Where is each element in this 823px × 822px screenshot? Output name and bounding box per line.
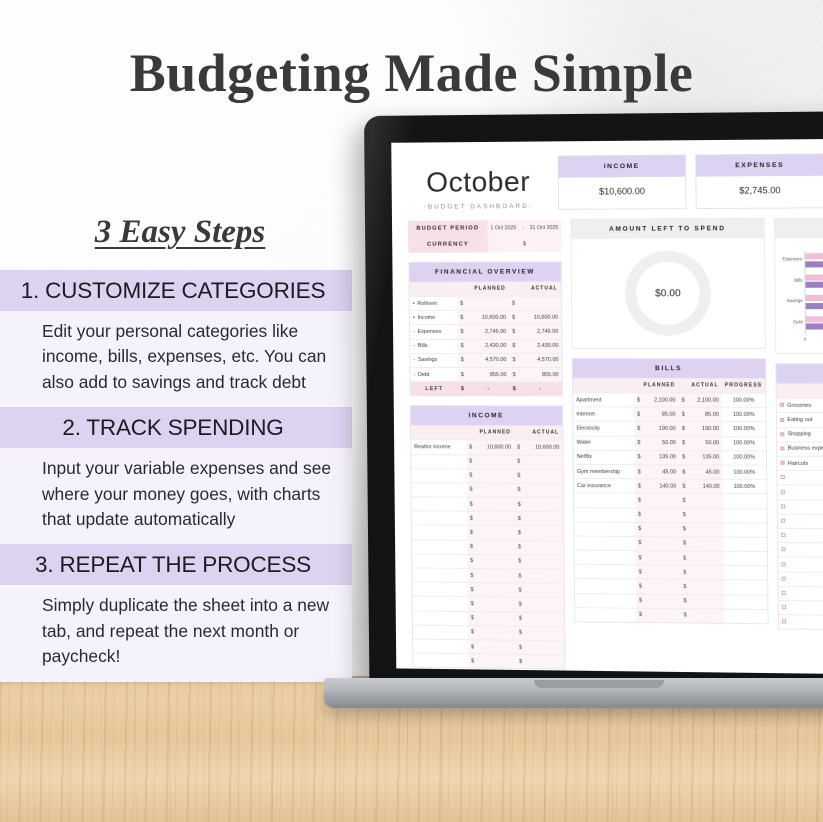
cell-planned[interactable] xyxy=(477,611,516,626)
cell-planned[interactable]: 10,600.00 xyxy=(475,440,514,454)
table-row[interactable]: $$ xyxy=(413,596,564,612)
bills-col-blank xyxy=(573,378,634,393)
financial-overview-table: PLANNED ACTUAL • Rollover$$• Income$10,6… xyxy=(410,281,562,395)
cell-currency: $ xyxy=(467,554,476,568)
total-label: LEFT xyxy=(411,382,458,396)
cell-planned[interactable]: 2,430.00 xyxy=(468,339,510,353)
donut-center-value: $0.00 xyxy=(625,251,712,336)
table-row[interactable]: $$ xyxy=(412,497,563,512)
cell-planned[interactable]: 855.00 xyxy=(468,367,510,381)
cell-currency: $ xyxy=(515,512,524,526)
table-row[interactable]: $$ xyxy=(412,525,563,540)
budget-period-card[interactable]: BUDGET PERIOD 1 Oct 2025 - 31 Oct 2025 C… xyxy=(408,220,562,253)
bills-panel-title: BILLS xyxy=(573,359,765,378)
cell-currency: $ xyxy=(680,508,689,522)
cell-planned[interactable] xyxy=(477,640,516,655)
income-panel-title: INCOME xyxy=(411,406,562,425)
table-row[interactable]: $$ xyxy=(411,468,562,483)
total-actual: - xyxy=(520,382,562,396)
cell-actual[interactable] xyxy=(523,469,562,483)
checkbox-icon[interactable] xyxy=(781,562,785,566)
cell-actual[interactable] xyxy=(689,537,723,552)
cash-flow-x-axis: 01,0002,000 xyxy=(805,337,823,347)
cell-currency: $ xyxy=(466,454,475,468)
cell-planned[interactable] xyxy=(477,625,516,640)
cell-actual[interactable] xyxy=(690,580,724,595)
cell-progress xyxy=(723,494,767,509)
cell-actual[interactable] xyxy=(524,555,563,570)
row-label[interactable]: Business expenses xyxy=(777,442,823,457)
cell-planned[interactable] xyxy=(476,554,515,569)
cell-actual[interactable]: 85.00 xyxy=(688,407,722,421)
cell-currency: $ xyxy=(635,479,644,493)
table-row[interactable]: $ xyxy=(778,557,823,573)
table-row[interactable]: $$ xyxy=(575,550,767,566)
cell-planned[interactable]: 85.00 xyxy=(643,407,679,421)
cell-progress xyxy=(724,580,768,595)
cell-actual[interactable] xyxy=(525,583,564,598)
budget-period-dash: - xyxy=(522,225,524,231)
row-label[interactable]: Groceries xyxy=(777,398,823,413)
amount-left-card: AMOUNT LEFT TO SPEND $0.00 xyxy=(570,218,766,349)
row-label[interactable]: Eating out xyxy=(777,413,823,428)
cell-actual[interactable] xyxy=(524,497,563,512)
table-row[interactable]: Eating out$300. xyxy=(777,413,823,428)
cell-planned[interactable] xyxy=(645,551,681,566)
table-row[interactable]: - Expenses$2,745.00$2,745.00 xyxy=(410,325,561,339)
row-label[interactable] xyxy=(412,497,467,512)
table-row[interactable]: $$ xyxy=(412,539,563,554)
row-label[interactable] xyxy=(412,525,467,540)
total-currency: $ xyxy=(458,382,468,396)
checkbox-icon[interactable] xyxy=(781,490,785,494)
cell-actual[interactable] xyxy=(525,640,564,655)
cell-planned[interactable] xyxy=(645,608,681,622)
cell-currency: $ xyxy=(678,393,687,407)
table-row[interactable]: Water$50.00$50.00100.00% xyxy=(573,436,765,451)
checkbox-icon[interactable] xyxy=(782,576,786,580)
row-label[interactable] xyxy=(779,600,823,615)
cell-planned[interactable] xyxy=(476,583,515,598)
cell-actual[interactable]: 45.00 xyxy=(688,465,722,480)
cell-planned[interactable] xyxy=(476,526,515,541)
table-row[interactable]: $$ xyxy=(574,493,766,508)
cell-actual[interactable]: 2,430.00 xyxy=(519,339,561,353)
cash-flow-card: CASH FLOW Planned Actual ExpensesBillsSa… xyxy=(774,217,823,354)
step-1-heading: 1. CUSTOMIZE CATEGORIES xyxy=(0,270,352,311)
cell-planned[interactable]: 140.00 xyxy=(644,479,680,494)
bar-actual xyxy=(806,282,823,288)
table-row[interactable]: Realtor income$10,600.00$10,600.00 xyxy=(411,440,562,455)
row-label[interactable] xyxy=(778,528,823,543)
row-label[interactable] xyxy=(574,493,635,508)
cell-currency: $ xyxy=(680,594,689,608)
cell-actual[interactable] xyxy=(689,494,723,509)
cell-planned[interactable]: 50.00 xyxy=(643,436,679,450)
row-label[interactable] xyxy=(779,586,823,601)
cell-planned[interactable]: 2,100.00 xyxy=(643,393,679,407)
kpi-expenses-label: EXPENSES xyxy=(696,154,823,176)
dashboard-left-column: BUDGET PERIOD 1 Oct 2025 - 31 Oct 2025 C… xyxy=(408,210,566,670)
table-row[interactable]: $ xyxy=(778,543,823,559)
cell-planned[interactable] xyxy=(645,579,681,594)
cell-currency: $ xyxy=(680,580,689,594)
table-header-row: PLANNED xyxy=(777,384,823,399)
row-label: - Savings xyxy=(410,353,457,367)
checkbox-icon[interactable] xyxy=(782,591,786,595)
amount-left-title: AMOUNT LEFT TO SPEND xyxy=(571,219,763,239)
cell-currency: $ xyxy=(680,565,689,579)
cell-planned[interactable] xyxy=(476,540,515,555)
cell-actual[interactable] xyxy=(525,655,564,669)
cell-planned[interactable] xyxy=(476,597,515,612)
table-row[interactable]: Gym membership$45.00$45.00100.00% xyxy=(574,464,766,479)
table-row[interactable]: $$ xyxy=(413,653,564,669)
cell-currency: $ xyxy=(467,597,476,611)
steps-list: 1. CUSTOMIZE CATEGORIES Edit your person… xyxy=(0,270,352,682)
cell-actual[interactable]: 2,745.00 xyxy=(519,325,561,339)
cell-actual[interactable] xyxy=(690,609,724,623)
cell-actual[interactable]: 140.00 xyxy=(689,479,723,494)
table-row[interactable]: - Savings$4,570.00$4,570.00 xyxy=(410,353,561,367)
cell-currency: $ xyxy=(680,551,689,565)
cell-planned[interactable]: 190.00 xyxy=(643,422,679,436)
currency-value[interactable]: $ xyxy=(488,236,562,252)
cell-currency: $ xyxy=(635,465,644,479)
row-label[interactable]: Car insurance xyxy=(574,479,635,494)
checkbox-icon[interactable] xyxy=(781,547,785,551)
table-row[interactable]: - Bills$2,430.00$2,430.00 xyxy=(410,339,561,353)
cell-progress: 100.00% xyxy=(722,436,766,451)
row-label[interactable]: Shopping xyxy=(777,427,823,442)
table-row[interactable]: $$ xyxy=(412,568,563,584)
row-label[interactable] xyxy=(411,454,466,468)
cell-currency: $ xyxy=(515,583,524,597)
row-label[interactable] xyxy=(413,625,468,640)
cell-actual[interactable] xyxy=(690,594,724,609)
cell-planned[interactable] xyxy=(475,454,514,468)
cell-actual[interactable] xyxy=(525,626,564,641)
checkbox-icon[interactable] xyxy=(781,504,785,508)
cell-actual[interactable] xyxy=(689,508,723,523)
cell-planned[interactable]: 135.00 xyxy=(644,450,680,464)
cell-actual[interactable] xyxy=(524,483,563,497)
income-panel: INCOME PLANNED ACTUAL Realtor income$10,… xyxy=(410,405,566,669)
row-label[interactable]: Internet xyxy=(573,407,634,421)
cell-progress xyxy=(723,508,767,523)
income-table: PLANNED ACTUAL Realtor income$10,600.00$… xyxy=(411,425,565,668)
laptop-lid: October -BUDGET DASHBOARD- INCOME $10,60… xyxy=(364,111,823,692)
cash-flow-plot: ExpensesBillsSavingsDebt xyxy=(804,251,823,335)
row-label[interactable] xyxy=(778,572,823,587)
row-label[interactable] xyxy=(412,539,467,554)
dashboard-middle-column: AMOUNT LEFT TO SPEND $0.00 BILLS PLANNED xyxy=(570,209,769,673)
cell-currency: $ xyxy=(515,497,524,511)
row-label: • Income xyxy=(410,311,457,325)
cell-currency: $ xyxy=(636,608,645,622)
table-row[interactable]: - Debt$855.00$855.00 xyxy=(410,367,561,381)
cell-currency: $ xyxy=(679,479,688,493)
table-row[interactable]: $$ xyxy=(412,483,563,498)
bills-panel: BILLS PLANNED ACTUAL PROGRESS Apartment$… xyxy=(572,358,769,624)
cell-currency: $ xyxy=(468,611,477,625)
checkbox-icon[interactable] xyxy=(781,533,785,537)
dashboard-right-column: CASH FLOW Planned Actual ExpensesBillsSa… xyxy=(774,208,823,674)
row-label[interactable] xyxy=(411,468,466,482)
cell-planned[interactable]: 2,745.00 xyxy=(467,325,509,339)
table-row[interactable]: Electricity$190.00$190.00100.00% xyxy=(573,421,765,436)
table-row[interactable]: $ xyxy=(778,485,823,500)
table-row[interactable]: $$ xyxy=(412,554,563,569)
row-label[interactable]: Apartment xyxy=(573,393,634,407)
bar-category-label: Savings xyxy=(786,298,802,303)
cell-actual[interactable]: 855.00 xyxy=(520,368,562,382)
table-row[interactable]: $ xyxy=(779,615,823,631)
cell-actual[interactable]: 4,570.00 xyxy=(520,353,562,367)
cell-actual[interactable]: 10,600.00 xyxy=(519,310,561,324)
bills-col-actual: ACTUAL xyxy=(678,378,721,393)
cell-currency: $ xyxy=(468,625,477,639)
row-label[interactable]: Water xyxy=(573,436,634,451)
cell-actual[interactable]: 10,600.00 xyxy=(523,440,562,454)
cell-planned[interactable] xyxy=(477,654,516,668)
expenses-table: PLANNED Groceries$550.Eating out$300.Sho… xyxy=(777,384,823,631)
cell-currency: $ xyxy=(516,612,525,626)
cell-actual[interactable] xyxy=(519,296,561,310)
cell-actual[interactable] xyxy=(525,612,564,627)
cell-planned[interactable] xyxy=(645,594,681,609)
bar-planned xyxy=(805,274,823,280)
cell-progress: 100.00% xyxy=(722,393,766,407)
cash-flow-title: CASH FLOW xyxy=(775,218,823,238)
table-row[interactable]: Netflix$135.00$135.00100.00% xyxy=(574,450,766,465)
cell-actual[interactable] xyxy=(524,526,563,541)
cell-actual[interactable] xyxy=(689,551,723,566)
cell-planned[interactable] xyxy=(467,296,509,310)
cell-currency: $ xyxy=(514,483,523,497)
bar-actual xyxy=(806,303,823,309)
cell-planned[interactable] xyxy=(475,483,514,497)
cell-progress xyxy=(723,537,767,552)
table-row[interactable]: $$ xyxy=(413,611,564,627)
row-label[interactable] xyxy=(574,536,635,551)
cell-planned[interactable]: 10,600.00 xyxy=(467,310,509,324)
table-row[interactable]: $ xyxy=(778,528,823,544)
row-label[interactable] xyxy=(575,565,636,580)
fo-col-blank xyxy=(410,282,457,297)
expenses-panel-title: EXPENSES xyxy=(776,364,823,383)
cell-actual[interactable]: 2,100.00 xyxy=(688,393,722,407)
table-row[interactable]: Groceries$550. xyxy=(777,398,823,413)
table-row[interactable]: $$ xyxy=(574,507,766,523)
row-label[interactable] xyxy=(575,593,636,608)
cell-currency: $ xyxy=(467,540,476,554)
laptop-trackpad-notch xyxy=(534,680,664,688)
row-label[interactable]: Realtor income xyxy=(411,440,466,454)
table-row[interactable]: $$ xyxy=(574,536,766,552)
row-label[interactable]: Haircuts xyxy=(777,456,823,471)
table-row[interactable]: $$ xyxy=(412,511,563,526)
cell-currency: $ xyxy=(515,526,524,540)
step-2-heading: 2. TRACK SPENDING xyxy=(0,407,352,448)
dashboard-brand: October -BUDGET DASHBOARD- xyxy=(407,156,549,211)
cell-actual[interactable] xyxy=(524,569,563,584)
row-label[interactable] xyxy=(412,582,467,597)
cell-progress: 100.00% xyxy=(723,479,767,494)
kpi-income-label: INCOME xyxy=(559,155,685,177)
row-label[interactable] xyxy=(413,611,468,626)
cell-currency: $ xyxy=(467,526,476,540)
table-row[interactable]: Apartment$2,100.00$2,100.00100.00% xyxy=(573,393,765,408)
cell-planned[interactable] xyxy=(645,565,681,580)
cell-currency: $ xyxy=(467,583,476,597)
row-label[interactable] xyxy=(575,550,636,565)
row-label[interactable] xyxy=(778,543,823,558)
row-label[interactable] xyxy=(412,568,467,583)
row-label[interactable] xyxy=(777,471,823,486)
checkbox-icon[interactable] xyxy=(781,519,785,523)
cell-currency: $ xyxy=(457,339,467,353)
budget-period-end: 31 Oct 2025 xyxy=(530,225,559,231)
row-label[interactable] xyxy=(412,483,467,498)
row-label[interactable] xyxy=(413,596,468,611)
row-label[interactable]: Gym membership xyxy=(574,464,635,479)
cell-actual[interactable] xyxy=(524,512,563,527)
row-label[interactable] xyxy=(575,607,636,621)
cell-actual[interactable] xyxy=(523,455,562,469)
row-label[interactable] xyxy=(412,554,467,569)
row-label[interactable] xyxy=(412,511,467,526)
table-row[interactable]: $$ xyxy=(412,582,563,598)
cell-currency: $ xyxy=(634,436,643,450)
table-row[interactable]: $$ xyxy=(575,607,767,623)
budget-period-value[interactable]: 1 Oct 2025 - 31 Oct 2025 xyxy=(487,220,561,236)
cell-progress xyxy=(723,566,767,581)
cell-planned[interactable] xyxy=(476,568,515,583)
checkbox-icon[interactable] xyxy=(782,620,786,624)
cell-currency: $ xyxy=(458,353,468,367)
table-row[interactable]: • Rollover$$ xyxy=(410,296,561,311)
checkbox-icon[interactable] xyxy=(782,605,786,609)
table-row[interactable]: $ xyxy=(778,499,823,514)
cell-planned[interactable] xyxy=(644,522,680,537)
row-label[interactable] xyxy=(575,579,636,594)
cell-currency: $ xyxy=(457,296,467,310)
bar-group: Debt xyxy=(806,316,823,331)
cell-planned[interactable] xyxy=(475,469,514,483)
cell-progress xyxy=(724,609,768,623)
row-label[interactable] xyxy=(778,485,823,500)
cell-currency: $ xyxy=(636,594,645,608)
checkbox-icon[interactable] xyxy=(780,432,784,436)
row-label[interactable] xyxy=(779,615,823,630)
table-row[interactable]: Haircuts$230. xyxy=(777,456,823,471)
cell-currency: $ xyxy=(515,555,524,569)
table-header-row: PLANNED ACTUAL PROGRESS xyxy=(573,378,765,393)
cell-actual[interactable] xyxy=(525,597,564,612)
kpi-income-value: $10,600.00 xyxy=(559,177,685,206)
cell-actual[interactable] xyxy=(689,565,723,580)
cell-progress: 100.00% xyxy=(722,422,766,437)
table-row[interactable]: Car insurance$140.00$140.00100.00% xyxy=(574,479,766,494)
row-label[interactable] xyxy=(778,514,823,529)
cell-currency: $ xyxy=(679,450,688,464)
checkbox-icon[interactable] xyxy=(780,461,784,465)
kpi-card-expenses[interactable]: EXPENSES $2,745.00 xyxy=(695,153,823,209)
checkbox-icon[interactable] xyxy=(780,403,784,407)
cell-currency: $ xyxy=(510,368,520,382)
cell-actual[interactable]: 135.00 xyxy=(688,450,722,465)
cell-currency: $ xyxy=(509,353,519,367)
bar-planned xyxy=(806,295,823,301)
table-row[interactable]: Internet$85.00$85.00100.00% xyxy=(573,407,765,422)
bar-actual xyxy=(805,261,823,268)
step-3-body: Simply duplicate the sheet into a new ta… xyxy=(0,585,352,681)
row-label[interactable] xyxy=(413,653,468,667)
row-label[interactable] xyxy=(413,639,468,654)
cell-currency: $ xyxy=(679,465,688,479)
row-label[interactable]: Electricity xyxy=(573,421,634,435)
cell-planned[interactable] xyxy=(644,493,680,508)
table-header-row: PLANNED ACTUAL xyxy=(411,425,562,440)
cell-planned[interactable] xyxy=(644,508,680,523)
table-row[interactable]: Business expenses$650. xyxy=(777,442,823,457)
row-label[interactable] xyxy=(574,522,635,537)
cell-currency: $ xyxy=(635,551,644,565)
checkbox-icon[interactable] xyxy=(780,446,784,450)
cell-currency: $ xyxy=(634,450,643,464)
table-total-row: LEFT$-$- xyxy=(411,382,562,396)
row-label[interactable] xyxy=(778,557,823,572)
cell-currency: $ xyxy=(515,569,524,583)
cell-actual[interactable]: 190.00 xyxy=(688,422,722,436)
kpi-card-income[interactable]: INCOME $10,600.00 xyxy=(558,154,687,209)
cell-planned[interactable]: 45.00 xyxy=(644,465,680,480)
step-3-heading: 3. REPEAT THE PROCESS xyxy=(0,544,352,585)
cell-actual[interactable] xyxy=(524,540,563,555)
row-label[interactable] xyxy=(778,499,823,514)
row-label[interactable] xyxy=(574,507,635,522)
table-row[interactable]: • Income$10,600.00$10,600.00 xyxy=(410,310,561,324)
cell-planned[interactable] xyxy=(476,497,515,511)
cell-currency: $ xyxy=(466,440,475,454)
cell-planned[interactable] xyxy=(644,536,680,551)
bar-group: Expenses xyxy=(805,253,823,269)
budget-period-start: 1 Oct 2025 xyxy=(491,225,517,231)
row-label: - Bills xyxy=(410,339,457,353)
table-row[interactable]: $ xyxy=(778,514,823,529)
row-label[interactable]: Netflix xyxy=(574,450,635,465)
table-row[interactable]: $ xyxy=(777,471,823,486)
cell-currency: $ xyxy=(679,494,688,508)
bar-category-label: Debt xyxy=(793,319,803,324)
cell-currency: $ xyxy=(634,393,643,407)
table-row[interactable]: $$ xyxy=(574,522,766,538)
cell-currency: $ xyxy=(509,339,519,353)
table-row[interactable]: Shopping$700. xyxy=(777,427,823,442)
table-row[interactable]: $ xyxy=(778,572,823,588)
laptop-screen: October -BUDGET DASHBOARD- INCOME $10,60… xyxy=(391,139,823,674)
bar-group: Savings xyxy=(806,295,823,311)
checkbox-icon[interactable] xyxy=(781,475,785,479)
cell-actual[interactable] xyxy=(689,522,723,537)
cell-planned[interactable]: 4,570.00 xyxy=(468,353,510,367)
checkbox-icon[interactable] xyxy=(780,418,784,422)
cell-planned[interactable] xyxy=(476,511,515,526)
table-row[interactable]: $$ xyxy=(411,454,562,469)
cell-currency: $ xyxy=(681,608,690,622)
cell-actual[interactable]: 50.00 xyxy=(688,436,722,450)
